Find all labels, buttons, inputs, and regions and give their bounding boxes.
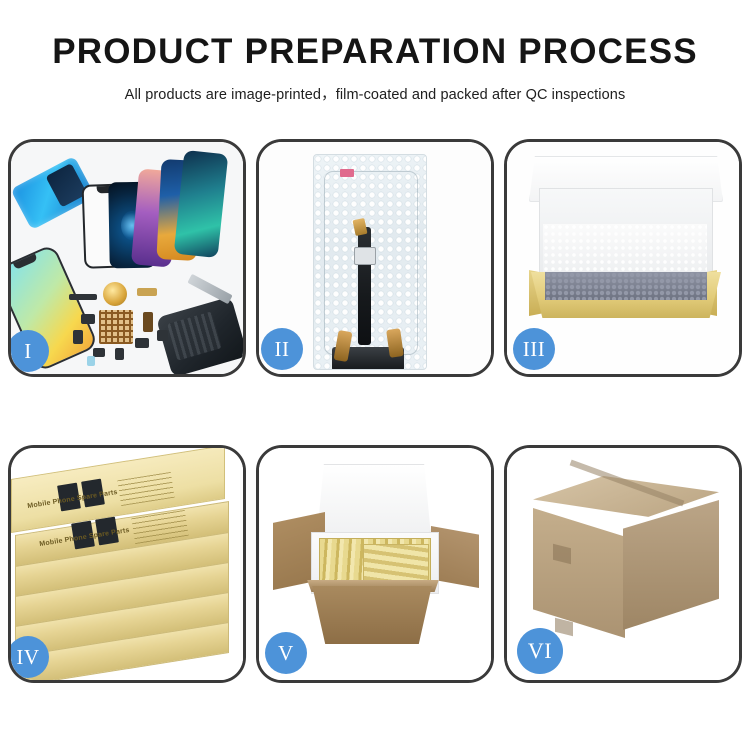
pink-qc-label	[340, 169, 354, 177]
process-step-panel-2[interactable]: II	[256, 139, 494, 377]
part-chip	[135, 338, 149, 348]
step-badge-3: III	[513, 328, 555, 370]
part-chip	[73, 330, 83, 344]
step-badge-2: II	[261, 328, 303, 370]
gray-packing-pellets	[545, 272, 707, 300]
process-step-panel-6[interactable]: VI	[504, 445, 742, 683]
step-badge-6: VI	[517, 628, 563, 674]
process-step-grid: I II	[8, 139, 742, 683]
part-chip	[81, 314, 95, 324]
step-badge-5: V	[265, 632, 307, 674]
flex-connector-head	[354, 247, 376, 265]
part-chip	[157, 330, 168, 341]
part-gold-coil	[103, 282, 127, 306]
part-connector-grid	[99, 310, 133, 344]
step-badge-4: IV	[8, 636, 49, 678]
part-chip	[115, 348, 124, 360]
process-step-panel-3[interactable]: III	[504, 139, 742, 377]
bubble-wrap-bag	[313, 154, 427, 370]
flex-cable	[358, 227, 371, 345]
packed-boxes-row	[363, 544, 429, 586]
process-step-panel-5[interactable]: V	[256, 445, 494, 683]
process-step-panel-4[interactable]: Mobile Phone Spare Parts Mobile Phone Sp…	[8, 445, 246, 683]
part-chip	[143, 312, 153, 332]
page-title: PRODUCT PREPARATION PROCESS	[0, 34, 750, 69]
process-step-panel-1[interactable]: I	[8, 139, 246, 377]
part-chip	[93, 348, 105, 357]
foam-box-lid	[317, 464, 431, 536]
carton-front-panel	[307, 586, 437, 644]
page-subtitle: All products are image-printed，film-coat…	[0, 69, 750, 104]
step-badge-1: I	[8, 330, 49, 372]
part-chip	[87, 356, 95, 366]
page-header: PRODUCT PREPARATION PROCESS All products…	[0, 0, 750, 104]
box-stack: Mobile Phone Spare Parts Mobile Phone Sp…	[11, 462, 243, 672]
part-chip	[69, 294, 97, 300]
part-chip	[137, 288, 157, 296]
